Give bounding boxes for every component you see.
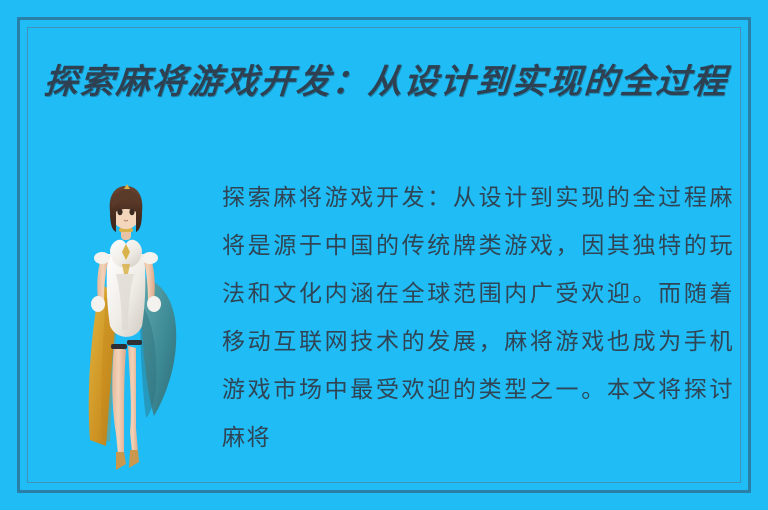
- article-card: 探索麻将游戏开发：从设计到实现的全过程: [0, 0, 768, 510]
- article-body-text: 探索麻将游戏开发：从设计到实现的全过程麻将是源于中国的传统牌类游戏，因其独特的玩…: [222, 174, 734, 462]
- article-title: 探索麻将游戏开发：从设计到实现的全过程: [42, 57, 735, 107]
- character-illustration-svg: [66, 178, 186, 478]
- character-illustration: [66, 178, 186, 478]
- article-content: 探索麻将游戏开发：从设计到实现的全过程麻将是源于中国的传统牌类游戏，因其独特的玩…: [44, 168, 734, 480]
